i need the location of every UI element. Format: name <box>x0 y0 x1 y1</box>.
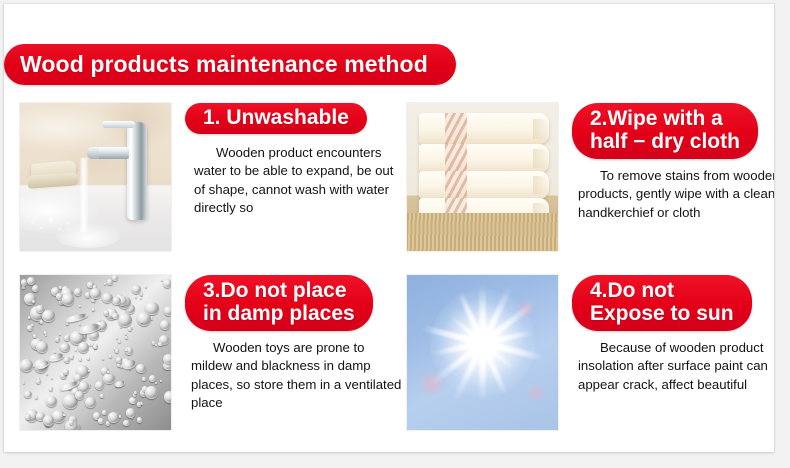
water-droplet <box>163 354 171 365</box>
water-droplet <box>78 342 89 353</box>
towel-band <box>445 171 467 199</box>
water-droplet <box>136 364 146 374</box>
water-droplet <box>79 323 81 325</box>
tip-badge-2: 2.Wipe with a half − dry cloth <box>572 103 758 159</box>
towel-fold <box>533 176 549 194</box>
water-droplet <box>158 342 162 346</box>
tip-image-2 <box>407 103 558 251</box>
water-droplet <box>43 415 54 426</box>
faucet-body <box>127 122 147 220</box>
water-droplet <box>87 357 90 360</box>
water-droplet <box>132 285 141 294</box>
water-droplet <box>118 313 132 327</box>
water-droplet <box>46 373 48 375</box>
water-droplet <box>54 351 56 353</box>
tip-panel-3: 3.Do not place in damp places Wooden toy… <box>20 275 403 433</box>
water-droplet <box>75 349 77 351</box>
water-droplet-streak <box>114 379 125 388</box>
water-droplet <box>145 285 147 287</box>
water-droplet <box>160 380 163 383</box>
tip-body-1: 1. Unwashable Wooden product encounters … <box>185 103 403 218</box>
water-droplet <box>107 279 112 284</box>
water-droplet <box>88 370 90 372</box>
poster-page: Wood products maintenance method <box>0 0 790 468</box>
water-droplet <box>45 334 47 336</box>
water-droplet <box>74 288 82 296</box>
water-droplet <box>128 327 132 331</box>
water-droplet <box>36 341 48 353</box>
woven-mat <box>407 213 558 251</box>
water-droplet <box>25 414 31 420</box>
water-droplet <box>55 337 60 342</box>
tip-panel-1: 1. Unwashable Wooden product encounters … <box>20 103 403 255</box>
tip-image-4 <box>407 275 558 430</box>
water-droplet <box>59 333 61 335</box>
water-droplet-streak <box>122 359 137 371</box>
towel-fold <box>533 149 549 167</box>
water-droplet <box>102 410 107 415</box>
water-droplet <box>142 377 146 381</box>
water-droplet <box>32 300 35 303</box>
water-droplet <box>40 320 44 324</box>
tip-text-4: Because of wooden product insolation aft… <box>578 339 774 394</box>
water-droplet <box>36 379 41 384</box>
water-droplet <box>125 333 127 335</box>
water-droplet <box>98 418 104 424</box>
water-droplet <box>115 349 119 353</box>
water-droplet <box>137 417 143 423</box>
water-droplet <box>117 363 121 367</box>
tip-text-3-wrap: Wooden toys are prone to mildew and blac… <box>185 339 403 413</box>
water-droplet <box>92 308 95 311</box>
water-droplet <box>103 373 114 384</box>
towel-stack-photo <box>407 103 558 251</box>
towel-fold <box>533 119 549 139</box>
tip-text-2-wrap: To remove stains from wooden products, g… <box>572 167 774 222</box>
water-droplet <box>107 371 109 373</box>
tip-text-1: Wooden product encounters water to be ab… <box>194 144 403 218</box>
water-droplet <box>134 391 138 395</box>
water-droplet <box>125 349 127 351</box>
water-droplet <box>24 391 31 398</box>
water-droplet <box>125 336 127 338</box>
water-droplet <box>112 297 121 306</box>
water-droplet <box>160 320 171 331</box>
water-droplet <box>79 358 82 361</box>
water-droplet <box>129 397 136 404</box>
water-droplet <box>102 357 104 359</box>
tip-badge-4-label: 4.Do not Expose to sun <box>590 279 734 325</box>
water-droplet <box>42 310 54 322</box>
water-droplet <box>49 387 53 391</box>
water-droplet <box>135 296 137 298</box>
water-droplet-streak <box>47 352 65 363</box>
water-droplet <box>46 396 57 407</box>
tip-badge-1-label: 1. Unwashable <box>203 106 349 129</box>
tip-badge-2-label: 2.Wipe with a half − dry cloth <box>590 107 740 153</box>
water-droplet <box>90 288 101 299</box>
water-droplet <box>112 275 118 281</box>
water-droplet <box>108 412 119 423</box>
water-droplet <box>164 391 171 402</box>
water-droplet <box>116 337 118 339</box>
water-droplet <box>102 293 113 304</box>
faucet-spout <box>93 147 129 159</box>
tip-text-4-wrap: Because of wooden product insolation aft… <box>572 339 774 394</box>
tip-text-1-wrap: Wooden product encounters water to be ab… <box>185 144 403 218</box>
tip-body-2: 2.Wipe with a half − dry cloth To remove… <box>572 103 774 222</box>
water-droplet <box>63 414 66 417</box>
water-droplet <box>137 402 142 407</box>
tip-panel-2: 2.Wipe with a half − dry cloth To remove… <box>407 103 774 255</box>
towel-3 <box>419 171 549 199</box>
water-droplet <box>62 293 74 305</box>
water-droplet <box>155 344 157 346</box>
sun-starburst-photo <box>407 275 558 430</box>
water-droplet <box>149 375 156 382</box>
water-droplet <box>66 322 69 325</box>
water-droplet <box>112 313 118 319</box>
water-droplet <box>64 357 70 363</box>
towel-band <box>445 144 467 172</box>
tip-badge-3-label: 3.Do not place in damp places <box>203 279 355 325</box>
water-droplet <box>51 377 53 379</box>
water-droplet <box>116 357 121 362</box>
water-droplet <box>70 355 74 359</box>
water-droplet <box>123 420 130 427</box>
lens-flare <box>525 384 546 401</box>
water-droplet <box>118 340 121 343</box>
tip-body-3: 3.Do not place in damp places Wooden toy… <box>185 275 403 413</box>
water-droplet <box>27 277 35 285</box>
water-droplet <box>79 305 81 307</box>
water-droplet <box>20 359 33 372</box>
towel-band <box>445 113 467 144</box>
water-droplet <box>32 285 39 292</box>
towel-2 <box>419 144 549 172</box>
tip-badge-4: 4.Do not Expose to sun <box>572 275 752 331</box>
water-stream <box>80 158 88 232</box>
tip-badge-3: 3.Do not place in damp places <box>185 275 373 331</box>
water-droplets-photo <box>20 275 171 430</box>
water-droplet <box>23 382 25 384</box>
water-droplet <box>140 292 144 296</box>
water-bubbles <box>28 213 73 237</box>
tip-image-3 <box>20 275 171 430</box>
water-droplet <box>126 408 135 417</box>
water-droplet <box>95 381 104 390</box>
water-droplet <box>60 343 69 352</box>
water-droplet <box>24 293 37 306</box>
tip-text-2: To remove stains from wooden products, g… <box>578 167 774 222</box>
water-droplet <box>27 325 33 331</box>
water-droplet <box>104 283 106 285</box>
faucet-running-water-photo <box>20 103 171 251</box>
water-droplet <box>75 391 85 401</box>
tip-badge-1: 1. Unwashable <box>185 103 367 134</box>
water-droplet <box>64 335 71 342</box>
water-droplet <box>100 394 104 398</box>
water-droplet <box>140 297 142 299</box>
tip-panel-4: 4.Do not Expose to sun Because of wooden… <box>407 275 774 433</box>
tip-image-1 <box>20 103 171 251</box>
water-droplet <box>35 396 38 399</box>
water-droplet <box>85 397 96 408</box>
water-droplet <box>63 369 69 375</box>
faucet-handle <box>102 121 135 128</box>
poster-card: Wood products maintenance method <box>4 4 774 452</box>
poster-title-banner: Wood products maintenance method <box>4 44 456 85</box>
water-droplet <box>155 382 157 384</box>
water-droplet <box>137 312 151 326</box>
poster-title-text: Wood products maintenance method <box>4 51 428 78</box>
towel-1 <box>419 113 549 144</box>
water-droplet <box>52 410 64 422</box>
water-droplet <box>109 355 112 358</box>
tip-body-4: 4.Do not Expose to sun Because of wooden… <box>572 275 774 394</box>
water-droplet <box>145 386 158 399</box>
water-droplet <box>163 279 171 289</box>
water-droplet <box>164 306 171 315</box>
tip-text-3: Wooden toys are prone to mildew and blac… <box>191 339 403 413</box>
water-droplet <box>119 415 121 417</box>
water-droplet-streak <box>65 312 89 324</box>
